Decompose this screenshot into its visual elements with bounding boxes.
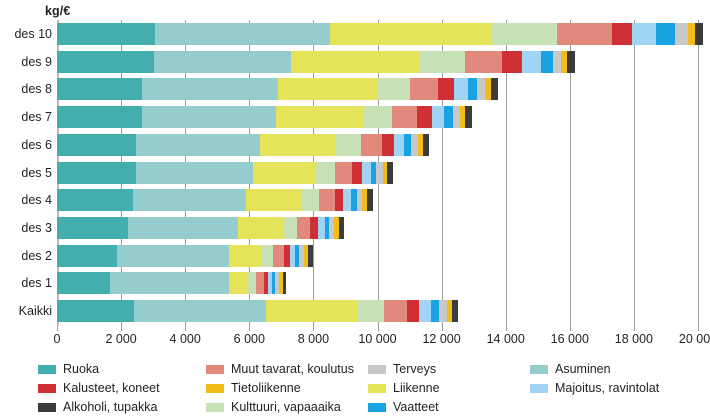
stacked-bar-chart: kg/€ des 10des 9des 8des 7des 6des 5des … bbox=[0, 0, 710, 420]
axis-tick bbox=[249, 325, 250, 331]
legend-swatch-icon bbox=[206, 384, 224, 393]
bar-segment[interactable] bbox=[229, 245, 260, 267]
bar-segment[interactable] bbox=[477, 78, 484, 100]
x-axis-label: 2 000 bbox=[105, 332, 136, 346]
legend-item[interactable]: Kulttuuri, vapaaaika bbox=[206, 400, 341, 414]
bar-segment[interactable] bbox=[439, 300, 446, 322]
y-axis-label: des 2 bbox=[0, 245, 52, 267]
bar-segment[interactable] bbox=[330, 23, 492, 45]
bar-segment[interactable] bbox=[134, 300, 266, 322]
bar-segment[interactable] bbox=[57, 162, 136, 184]
legend-swatch-icon bbox=[206, 365, 224, 374]
bar-segment[interactable] bbox=[278, 78, 378, 100]
chart-legend: RuokaMuut tavarat, koulutusTerveysAsumin… bbox=[38, 362, 710, 418]
x-axis-label: 6 000 bbox=[234, 332, 265, 346]
bar-segment[interactable] bbox=[283, 217, 297, 239]
axis-tick bbox=[442, 325, 443, 331]
bar-row bbox=[57, 162, 698, 184]
y-axis-label: des 8 bbox=[0, 78, 52, 100]
bar-segment[interactable] bbox=[57, 51, 154, 73]
legend-item[interactable]: Muut tavarat, koulutus bbox=[206, 362, 354, 376]
bar-segment[interactable] bbox=[154, 51, 291, 73]
plot-area bbox=[57, 20, 698, 325]
bar-segment[interactable] bbox=[136, 134, 260, 156]
x-axis: 02 0004 0006 0008 00010 00012 00014 0001… bbox=[57, 325, 698, 351]
legend-item[interactable]: Alkoholi, tupakka bbox=[38, 400, 158, 414]
stacked-bar[interactable] bbox=[57, 217, 344, 239]
bar-segment[interactable] bbox=[302, 189, 320, 211]
bar-segment[interactable] bbox=[432, 106, 445, 128]
bar-segment[interactable] bbox=[57, 78, 142, 100]
bar-segment[interactable] bbox=[410, 78, 438, 100]
bar-row bbox=[57, 300, 698, 322]
bar-segment[interactable] bbox=[453, 106, 460, 128]
bar-segment[interactable] bbox=[110, 272, 230, 294]
bar-segment[interactable] bbox=[420, 51, 465, 73]
bar-segment[interactable] bbox=[553, 51, 561, 73]
legend-label: Alkoholi, tupakka bbox=[63, 400, 158, 414]
bar-segment[interactable] bbox=[491, 78, 498, 100]
bar-segment[interactable] bbox=[454, 78, 468, 100]
stacked-bar[interactable] bbox=[57, 272, 286, 294]
bar-segment[interactable] bbox=[417, 106, 431, 128]
bar-segment[interactable] bbox=[246, 189, 301, 211]
legend-item[interactable]: Asuminen bbox=[530, 362, 611, 376]
stacked-bar[interactable] bbox=[57, 300, 458, 322]
axis-tick bbox=[698, 325, 699, 331]
bar-segment[interactable] bbox=[444, 106, 452, 128]
bar-segment[interactable] bbox=[57, 23, 155, 45]
bar-segment[interactable] bbox=[247, 272, 256, 294]
legend-swatch-icon bbox=[530, 365, 548, 374]
legend-label: Liikenne bbox=[393, 381, 440, 395]
bar-segment[interactable] bbox=[502, 51, 522, 73]
y-axis-label: des 7 bbox=[0, 106, 52, 128]
x-axis-label: 12 000 bbox=[422, 332, 460, 346]
bar-segment[interactable] bbox=[438, 78, 454, 100]
bar-segment[interactable] bbox=[392, 106, 417, 128]
stacked-bar[interactable] bbox=[57, 162, 393, 184]
bar-segment[interactable] bbox=[404, 134, 411, 156]
legend-label: Muut tavarat, koulutus bbox=[231, 362, 354, 376]
bar-segment[interactable] bbox=[260, 134, 336, 156]
legend-swatch-icon bbox=[530, 384, 548, 393]
bar-segment[interactable] bbox=[364, 106, 392, 128]
axis-tick bbox=[121, 325, 122, 331]
x-axis-label: 0 bbox=[54, 332, 61, 346]
stacked-bar[interactable] bbox=[57, 23, 703, 45]
bar-segment[interactable] bbox=[315, 162, 335, 184]
bar-segment[interactable] bbox=[357, 300, 385, 322]
bar-segment[interactable] bbox=[283, 272, 287, 294]
bar-segment[interactable] bbox=[452, 300, 458, 322]
bar-segment[interactable] bbox=[377, 78, 409, 100]
legend-label: Kulttuuri, vapaaaika bbox=[231, 400, 341, 414]
bar-rows bbox=[57, 20, 698, 325]
bar-segment[interactable] bbox=[297, 217, 310, 239]
legend-swatch-icon bbox=[38, 403, 56, 412]
legend-item[interactable]: Kalusteet, koneet bbox=[38, 381, 160, 395]
bar-segment[interactable] bbox=[57, 106, 142, 128]
bar-segment[interactable] bbox=[57, 134, 136, 156]
bar-segment[interactable] bbox=[656, 23, 675, 45]
bar-segment[interactable] bbox=[632, 23, 656, 45]
bar-segment[interactable] bbox=[352, 162, 362, 184]
y-axis-label: des 4 bbox=[0, 189, 52, 211]
legend-item[interactable]: Tietoliikenne bbox=[206, 381, 301, 395]
bar-segment[interactable] bbox=[557, 23, 612, 45]
legend-label: Kalusteet, koneet bbox=[63, 381, 160, 395]
bar-segment[interactable] bbox=[541, 51, 554, 73]
bar-segment[interactable] bbox=[318, 217, 325, 239]
bar-segment[interactable] bbox=[238, 217, 283, 239]
bar-segment[interactable] bbox=[136, 162, 253, 184]
bar-segment[interactable] bbox=[362, 162, 371, 184]
bar-segment[interactable] bbox=[387, 162, 393, 184]
stacked-bar[interactable] bbox=[57, 134, 429, 156]
legend-swatch-icon bbox=[368, 365, 386, 374]
legend-label: Majoitus, ravintolat bbox=[555, 381, 659, 395]
y-axis-label: des 6 bbox=[0, 134, 52, 156]
bar-row bbox=[57, 23, 698, 45]
bar-segment[interactable] bbox=[57, 217, 128, 239]
bar-segment[interactable] bbox=[384, 300, 407, 322]
bar-segment[interactable] bbox=[308, 245, 313, 267]
legend-swatch-icon bbox=[38, 365, 56, 374]
x-axis-label: 14 000 bbox=[487, 332, 525, 346]
bar-segment[interactable] bbox=[291, 51, 420, 73]
legend-item[interactable]: Liikenne bbox=[368, 381, 440, 395]
axis-tick bbox=[313, 325, 314, 331]
bar-segment[interactable] bbox=[688, 23, 695, 45]
legend-item[interactable]: Vaatteet bbox=[368, 400, 439, 414]
bar-row bbox=[57, 272, 698, 294]
legend-swatch-icon bbox=[38, 384, 56, 393]
legend-swatch-icon bbox=[368, 384, 386, 393]
bar-segment[interactable] bbox=[142, 106, 276, 128]
x-axis-label: 4 000 bbox=[170, 332, 201, 346]
bar-segment[interactable] bbox=[343, 189, 351, 211]
legend-item[interactable]: Majoitus, ravintolat bbox=[530, 381, 659, 395]
legend-label: Ruoka bbox=[63, 362, 99, 376]
bar-segment[interactable] bbox=[339, 217, 344, 239]
x-axis-label: 18 000 bbox=[615, 332, 653, 346]
bar-segment[interactable] bbox=[361, 134, 382, 156]
y-axis-label: Kaikki bbox=[0, 300, 52, 322]
bar-segment[interactable] bbox=[266, 300, 357, 322]
bar-segment[interactable] bbox=[567, 51, 574, 73]
bar-segment[interactable] bbox=[407, 300, 419, 322]
bar-segment[interactable] bbox=[492, 23, 557, 45]
legend-label: Vaatteet bbox=[393, 400, 439, 414]
stacked-bar[interactable] bbox=[57, 51, 575, 73]
bar-segment[interactable] bbox=[273, 245, 284, 267]
bar-row bbox=[57, 217, 698, 239]
bar-segment[interactable] bbox=[155, 23, 330, 45]
bar-row bbox=[57, 189, 698, 211]
axis-tick bbox=[57, 325, 58, 331]
x-axis-label: 10 000 bbox=[358, 332, 396, 346]
axis-tick bbox=[185, 325, 186, 331]
legend-item[interactable]: Terveys bbox=[368, 362, 436, 376]
bar-segment[interactable] bbox=[465, 106, 472, 128]
bar-segment[interactable] bbox=[419, 300, 431, 322]
bar-segment[interactable] bbox=[261, 245, 273, 267]
legend-swatch-icon bbox=[206, 403, 224, 412]
bar-segment[interactable] bbox=[57, 245, 117, 267]
bar-segment[interactable] bbox=[468, 78, 478, 100]
bar-segment[interactable] bbox=[142, 78, 278, 100]
bar-row bbox=[57, 134, 698, 156]
x-axis-label: 8 000 bbox=[298, 332, 329, 346]
bar-row bbox=[57, 51, 698, 73]
bar-segment[interactable] bbox=[128, 217, 237, 239]
bar-segment[interactable] bbox=[335, 189, 344, 211]
bar-row bbox=[57, 106, 698, 128]
legend-label: Terveys bbox=[393, 362, 436, 376]
bar-row bbox=[57, 245, 698, 267]
x-axis-label: 20 000 bbox=[679, 332, 710, 346]
bar-segment[interactable] bbox=[431, 300, 439, 322]
bar-segment[interactable] bbox=[465, 51, 502, 73]
stacked-bar[interactable] bbox=[57, 245, 313, 267]
stacked-bar[interactable] bbox=[57, 78, 498, 100]
x-axis-label: 16 000 bbox=[551, 332, 589, 346]
legend-label: Tietoliikenne bbox=[231, 381, 301, 395]
bar-segment[interactable] bbox=[256, 272, 264, 294]
bar-segment[interactable] bbox=[695, 23, 703, 45]
bar-row bbox=[57, 78, 698, 100]
stacked-bar[interactable] bbox=[57, 189, 373, 211]
bar-segment[interactable] bbox=[57, 272, 110, 294]
bar-segment[interactable] bbox=[382, 134, 394, 156]
legend-item[interactable]: Ruoka bbox=[38, 362, 99, 376]
y-axis-label: des 5 bbox=[0, 162, 52, 184]
bar-segment[interactable] bbox=[522, 51, 541, 73]
y-axis-labels: des 10des 9des 8des 7des 6des 5des 4des … bbox=[0, 20, 52, 325]
y-axis-label: des 3 bbox=[0, 217, 52, 239]
bar-segment[interactable] bbox=[367, 189, 372, 211]
unit-label: kg/€ bbox=[45, 4, 70, 18]
axis-tick bbox=[378, 325, 379, 331]
bar-segment[interactable] bbox=[319, 189, 334, 211]
bar-segment[interactable] bbox=[57, 300, 134, 322]
axis-tick bbox=[634, 325, 635, 331]
gridline bbox=[698, 20, 699, 325]
bar-segment[interactable] bbox=[117, 245, 229, 267]
y-axis-label: des 10 bbox=[0, 23, 52, 45]
bar-segment[interactable] bbox=[423, 134, 429, 156]
bar-segment[interactable] bbox=[675, 23, 688, 45]
bar-segment[interactable] bbox=[229, 272, 246, 294]
bar-segment[interactable] bbox=[394, 134, 405, 156]
bar-segment[interactable] bbox=[336, 134, 361, 156]
legend-label: Asuminen bbox=[555, 362, 611, 376]
bar-segment[interactable] bbox=[335, 162, 352, 184]
y-axis-label: des 1 bbox=[0, 272, 52, 294]
axis-tick bbox=[506, 325, 507, 331]
bar-segment[interactable] bbox=[253, 162, 315, 184]
bar-segment[interactable] bbox=[57, 189, 133, 211]
bar-segment[interactable] bbox=[612, 23, 632, 45]
bar-segment[interactable] bbox=[276, 106, 364, 128]
stacked-bar[interactable] bbox=[57, 106, 472, 128]
y-axis-label: des 9 bbox=[0, 51, 52, 73]
legend-swatch-icon bbox=[368, 403, 386, 412]
bar-segment[interactable] bbox=[133, 189, 246, 211]
bar-segment[interactable] bbox=[310, 217, 318, 239]
axis-tick bbox=[570, 325, 571, 331]
